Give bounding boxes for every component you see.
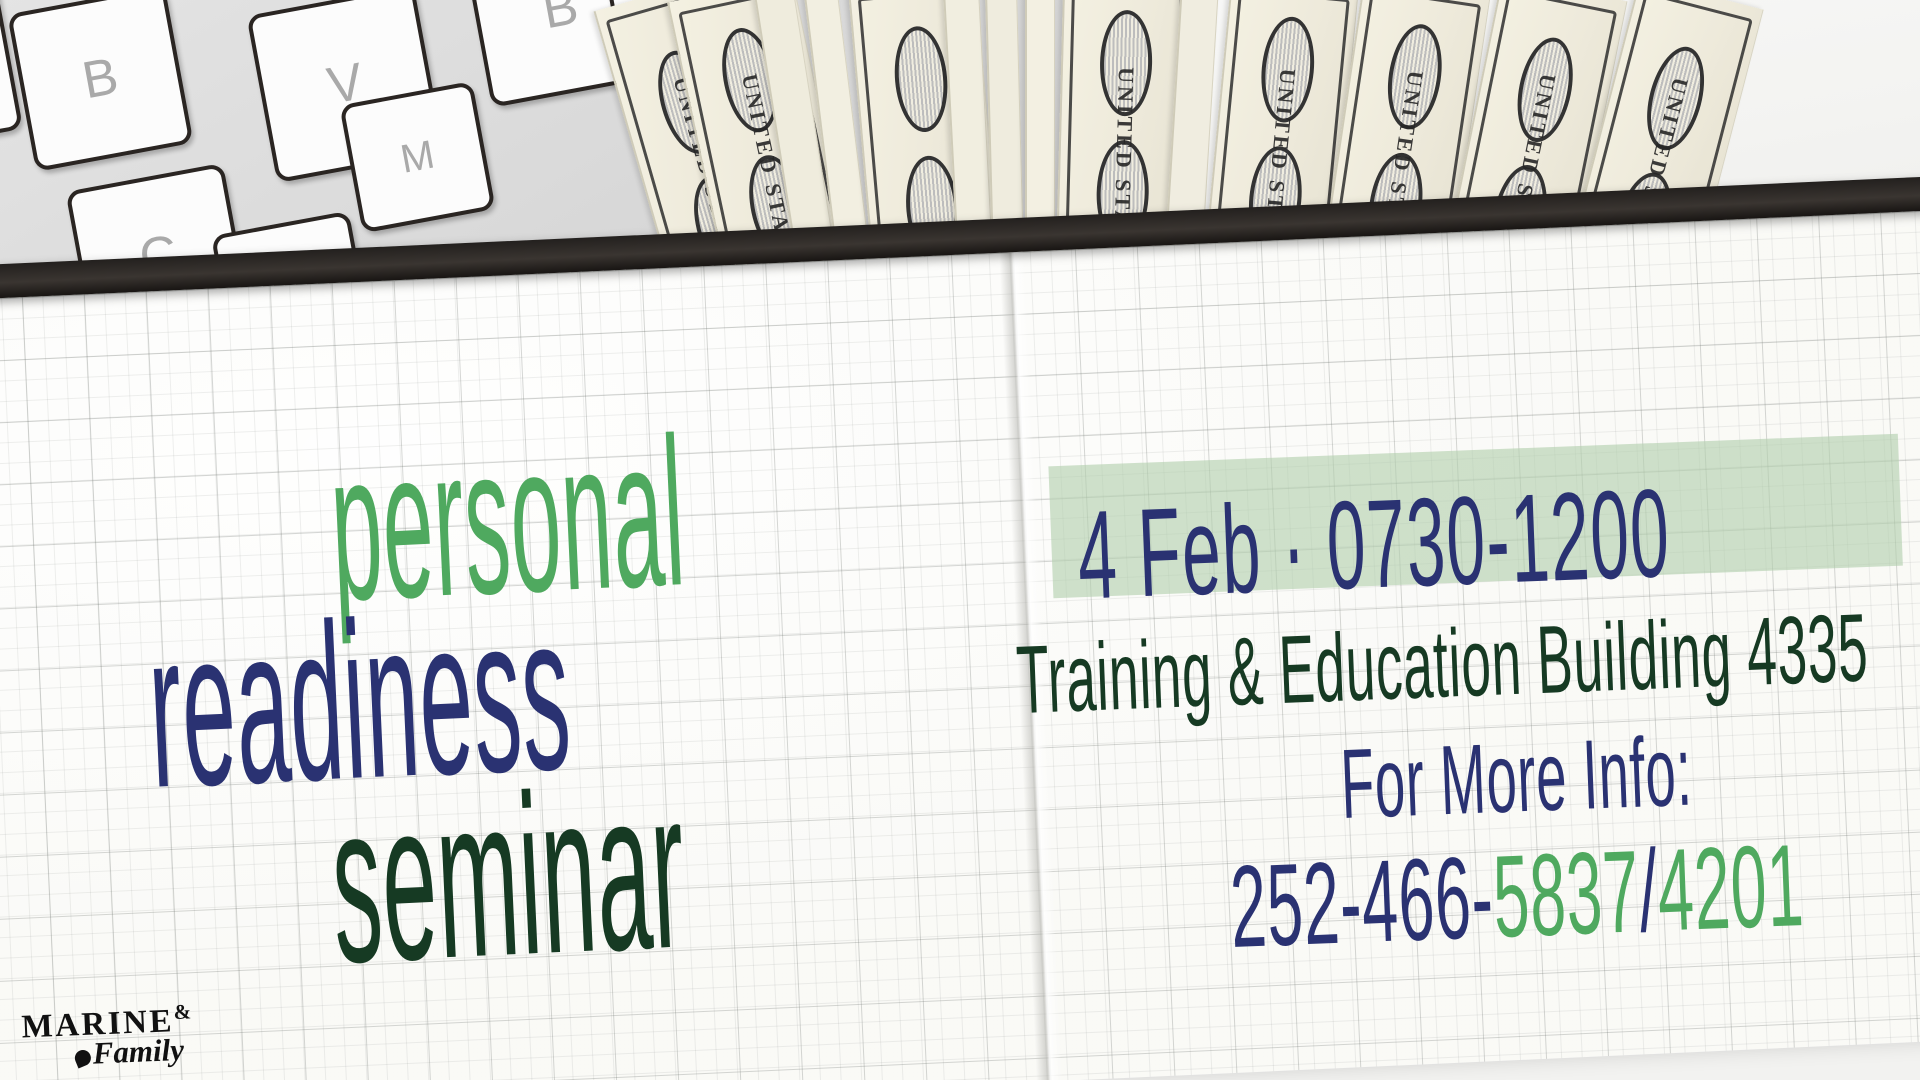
poster-canvas: D B A N T C V M C B И И UNITED STATES OF… — [0, 0, 1920, 1080]
keyboard-key-m: M — [339, 81, 495, 233]
logo-wordmark-family: Family — [74, 1033, 193, 1069]
key-label: M — [397, 132, 438, 182]
poster-headline: personal readiness seminar — [136, 377, 984, 1054]
key-label: B — [538, 0, 583, 41]
event-details-block: 4 Feb · 0730-1200 Training & Education B… — [1029, 443, 1920, 1076]
phone-prefix: 252-466- — [1228, 833, 1496, 973]
phone-extension-1: 5837 — [1491, 827, 1642, 962]
logo-swoosh-icon — [72, 1048, 93, 1069]
pencil-wood-tip — [0, 487, 6, 657]
contact-phone-number[interactable]: 252-466-5837/4201 — [1228, 820, 1806, 975]
phone-extension-2: 4201 — [1655, 821, 1806, 956]
headline-line-seminar: seminar — [327, 738, 691, 1015]
marine-and-family-logo: MARINE& Family — [21, 1001, 193, 1071]
pencil-graphite-point — [0, 441, 25, 525]
key-label: B — [78, 46, 123, 111]
more-info-label: For More Info: — [1339, 714, 1694, 842]
logo-ampersand: & — [173, 999, 191, 1024]
logo-text-family: Family — [92, 1032, 185, 1071]
keyboard-key-b: B — [7, 0, 193, 172]
event-date-time: 4 Feb · 0730-1200 — [1075, 461, 1673, 628]
